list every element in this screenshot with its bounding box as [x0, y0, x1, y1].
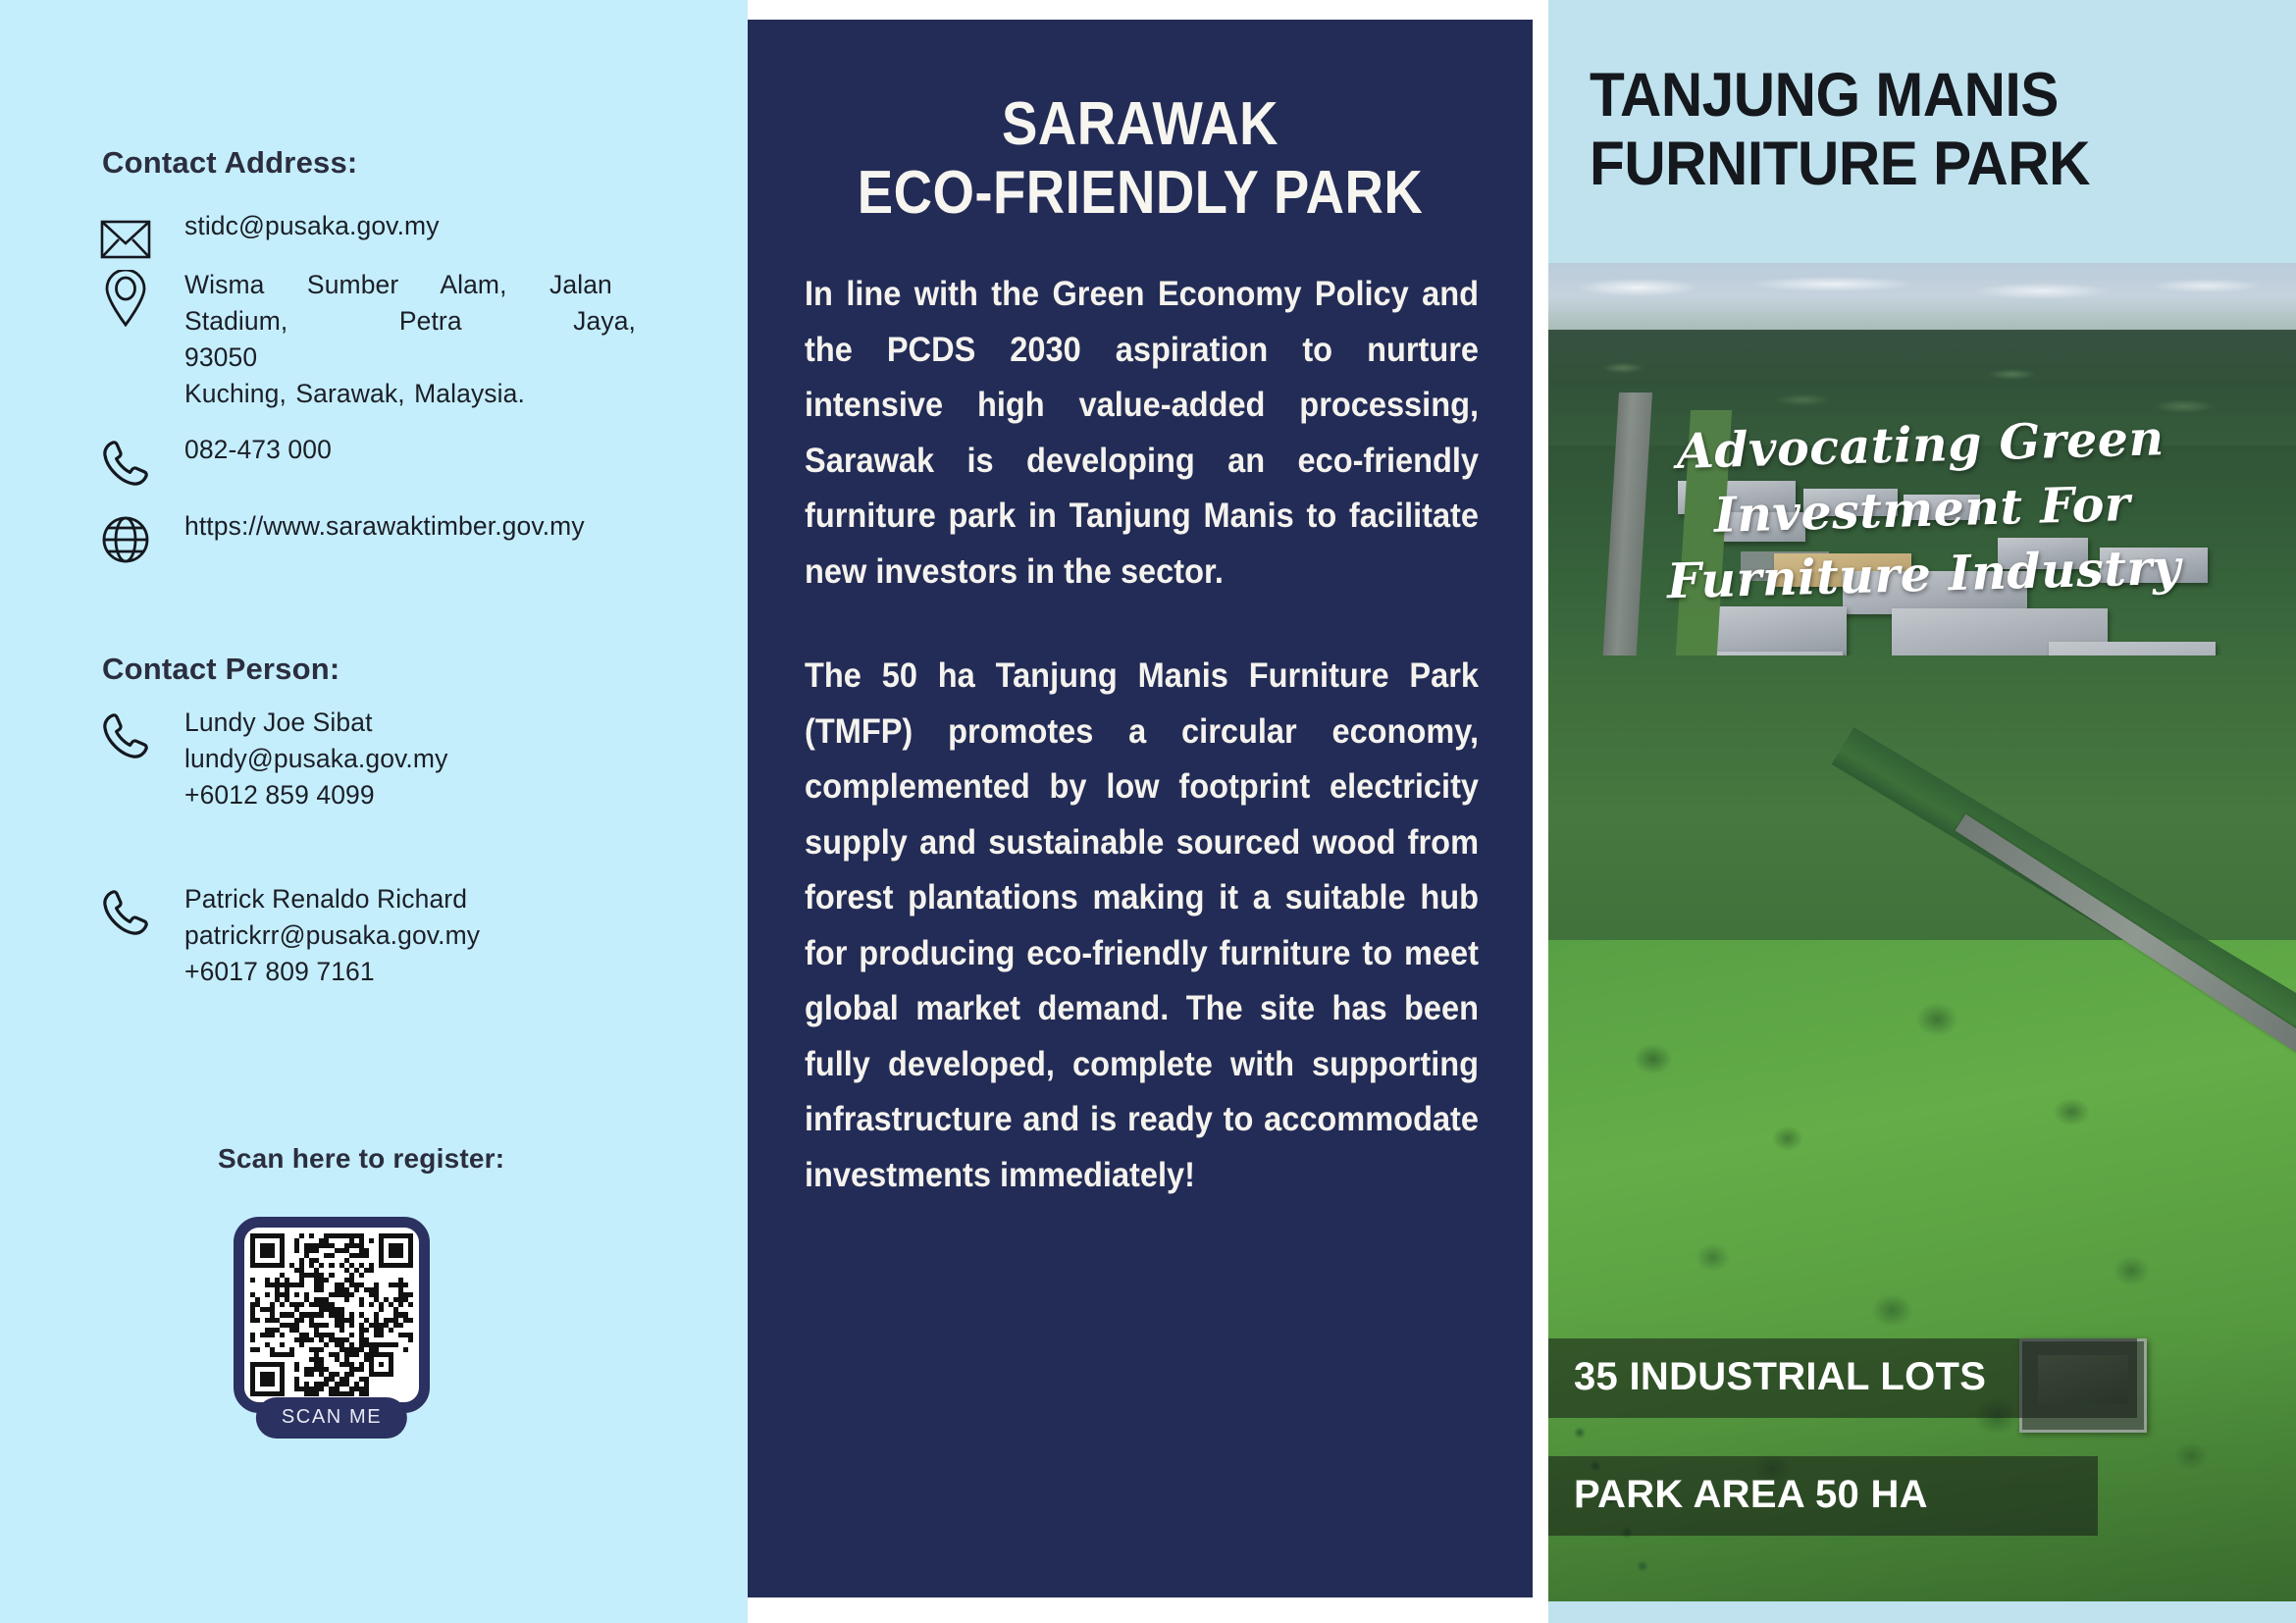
cover-title-line-1: TANJUNG MANIS	[1590, 61, 2219, 130]
description-panel: SARAWAK ECO-FRIENDLY PARK In line with t…	[748, 20, 1533, 1597]
person-1-name: Lundy Joe Sibat	[184, 705, 447, 741]
cover-panel: TANJUNG MANIS FURNITURE PARK	[1548, 0, 2296, 1623]
center-title-line-1: SARAWAK	[845, 90, 1435, 159]
center-title-line-2: ECO-FRIENDLY PARK	[845, 159, 1435, 228]
phone-icon	[94, 705, 157, 767]
scan-me-label: SCAN ME	[256, 1397, 407, 1439]
person-2-email: patrickrr@pusaka.gov.my	[184, 917, 480, 954]
contact-address-heading: Contact Address:	[102, 145, 357, 181]
person-1-phone: +6012 859 4099	[184, 777, 447, 813]
stat-industrial-lots: 35 INDUSTRIAL LOTS	[1548, 1338, 2137, 1418]
globe-icon	[94, 508, 157, 571]
tagline: Advocating Green Investment For Furnitur…	[1548, 401, 2296, 616]
contact-address-value: Wisma Sumber Alam, Jalan Stadium, Petra …	[184, 267, 636, 412]
map-pin-icon	[94, 267, 157, 330]
person-2-name: Patrick Renaldo Richard	[184, 881, 480, 917]
aerial-photo: Advocating Green Investment For Furnitur…	[1548, 263, 2296, 1601]
contact-person-1-details: Lundy Joe Sibat lundy@pusaka.gov.my +601…	[184, 705, 447, 813]
stat-park-area: PARK AREA 50 HA	[1548, 1456, 2098, 1536]
cloud-band	[1548, 271, 2296, 304]
cover-title: TANJUNG MANIS FURNITURE PARK	[1590, 61, 2219, 198]
phone-icon	[94, 432, 157, 495]
contact-person-1-row[interactable]: Lundy Joe Sibat lundy@pusaka.gov.my +601…	[94, 705, 447, 813]
contact-website-row[interactable]: https://www.sarawaktimber.gov.my	[94, 508, 585, 571]
person-1-email: lundy@pusaka.gov.my	[184, 741, 447, 777]
contact-email-value: stidc@pusaka.gov.my	[184, 208, 440, 244]
contact-address-row: Wisma Sumber Alam, Jalan Stadium, Petra …	[94, 267, 636, 412]
qr-code-matrix	[250, 1233, 413, 1396]
description-paragraph-1: In line with the Green Economy Policy an…	[805, 267, 1479, 600]
address-line-3: Kuching, Sarawak, Malaysia.	[184, 376, 636, 412]
description-paragraph-2: The 50 ha Tanjung Manis Furniture Park (…	[805, 649, 1479, 1203]
contact-email-row[interactable]: stidc@pusaka.gov.my	[94, 208, 440, 271]
contact-person-2-row[interactable]: Patrick Renaldo Richard patrickrr@pusaka…	[94, 881, 480, 990]
qr-code-block[interactable]: SCAN ME	[234, 1217, 430, 1413]
cover-title-line-2: FURNITURE PARK	[1590, 130, 2219, 198]
contact-phone-row[interactable]: 082-473 000	[94, 432, 332, 495]
envelope-icon	[94, 208, 157, 271]
contact-phone-value: 082-473 000	[184, 432, 332, 468]
contact-person-heading: Contact Person:	[102, 652, 339, 687]
contact-website-value: https://www.sarawaktimber.gov.my	[184, 508, 585, 545]
scan-to-register-heading: Scan here to register:	[218, 1143, 504, 1175]
contact-person-2-details: Patrick Renaldo Richard patrickrr@pusaka…	[184, 881, 480, 990]
address-line-2: Stadium, Petra Jaya, 93050	[184, 303, 636, 376]
brochure-page: Contact Address: stidc@pusaka.gov.my	[0, 0, 2296, 1623]
center-panel-title: SARAWAK ECO-FRIENDLY PARK	[845, 90, 1435, 228]
contact-panel: Contact Address: stidc@pusaka.gov.my	[0, 0, 748, 1623]
tagline-line-1: Advocating Green Investment For	[1548, 401, 2296, 551]
phone-icon	[94, 881, 157, 944]
address-line-1: Wisma Sumber Alam, Jalan	[184, 267, 636, 303]
person-2-phone: +6017 809 7161	[184, 954, 480, 990]
qr-code-frame	[234, 1217, 430, 1413]
